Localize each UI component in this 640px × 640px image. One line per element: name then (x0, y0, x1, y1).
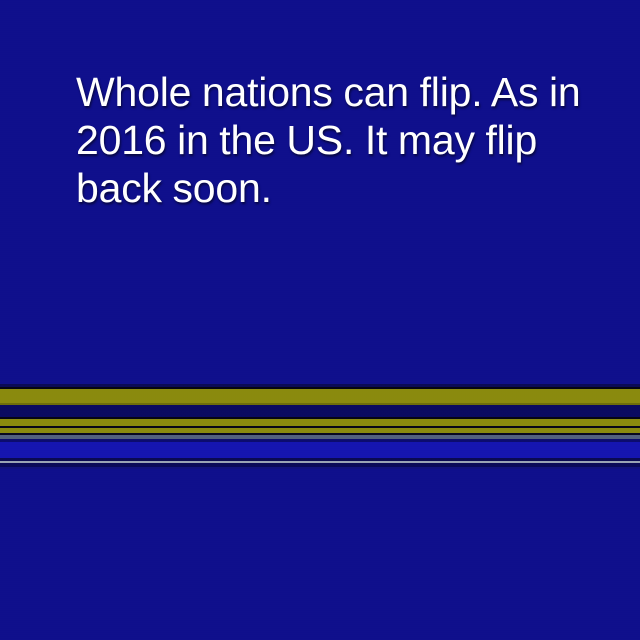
stripe-blue-band-bright (0, 442, 640, 458)
quote-card: Whole nations can flip. As in 2016 in th… (0, 0, 640, 640)
stripe-olive-band-2 (0, 419, 640, 426)
stripe-olive-band-1 (0, 389, 640, 403)
quote-text: Whole nations can flip. As in 2016 in th… (76, 68, 628, 212)
stripe-edge-dark-bottom (0, 467, 640, 469)
stripe-band (0, 384, 640, 468)
stripe-navy-band-1 (0, 405, 640, 417)
